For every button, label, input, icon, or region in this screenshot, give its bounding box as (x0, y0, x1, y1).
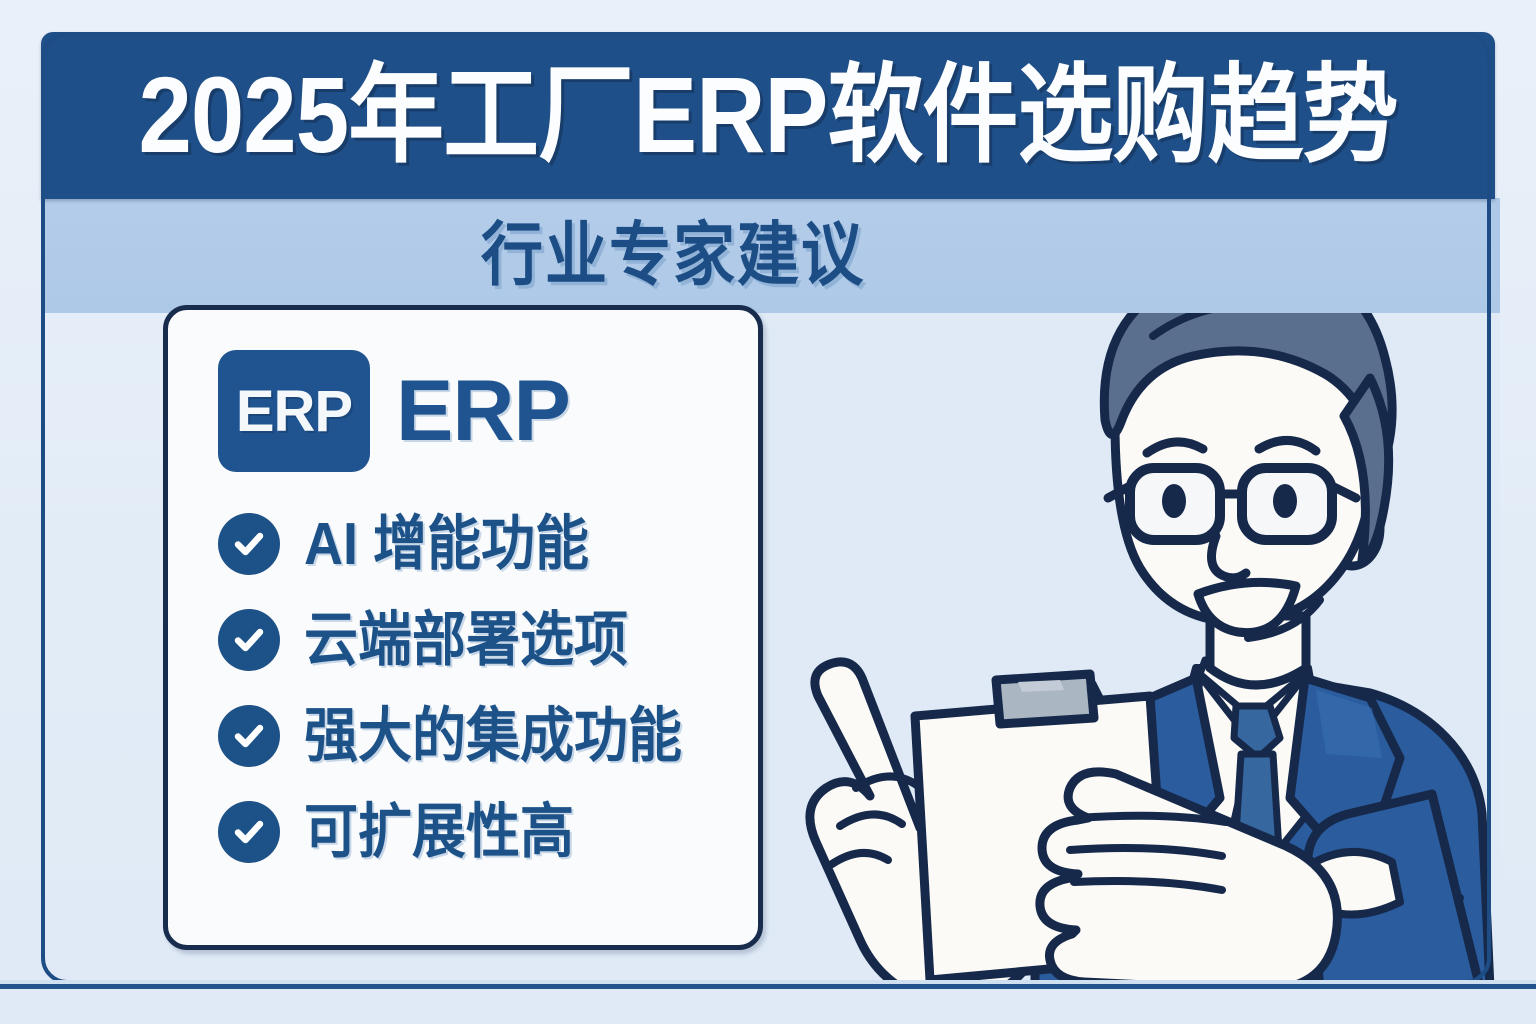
check-circle-icon (218, 513, 280, 575)
businessman-illustration (760, 198, 1500, 988)
feature-list-item: AI 增能功能 (218, 508, 758, 580)
check-circle-icon (218, 705, 280, 767)
feature-label: 强大的集成功能 (304, 706, 682, 765)
poster-title: 2025年工厂ERP软件选购趋势 (139, 62, 1398, 170)
erp-badge-icon: ERP (218, 350, 370, 472)
feature-label: 云端部署选项 (304, 610, 628, 669)
poster-canvas: 2025年工厂ERP软件选购趋势 行业专家建议 ERP ERP AI 增能功能 (0, 0, 1536, 1024)
feature-label: AI 增能功能 (304, 514, 589, 573)
check-circle-icon (218, 609, 280, 671)
feature-list-item: 云端部署选项 (218, 604, 758, 676)
erp-feature-card: ERP ERP AI 增能功能 云端部署选项 (163, 305, 763, 950)
erp-badge-label: ERP (236, 378, 352, 445)
erp-feature-list: AI 增能功能 云端部署选项 强大的集成功能 (218, 508, 758, 868)
feature-list-item: 可扩展性高 (218, 796, 758, 868)
erp-brand-name: ERP (396, 368, 570, 454)
poster-subtitle: 行业专家建议 (481, 221, 865, 290)
baseline-rule (0, 984, 1536, 989)
poster-subtitle-band: 行业专家建议 (44, 199, 1492, 313)
poster-title-bar: 2025年工厂ERP软件选购趋势 (41, 32, 1495, 199)
erp-brand-row: ERP ERP (218, 348, 758, 474)
feature-label: 可扩展性高 (304, 802, 574, 861)
check-circle-icon (218, 801, 280, 863)
feature-list-item: 强大的集成功能 (218, 700, 758, 772)
